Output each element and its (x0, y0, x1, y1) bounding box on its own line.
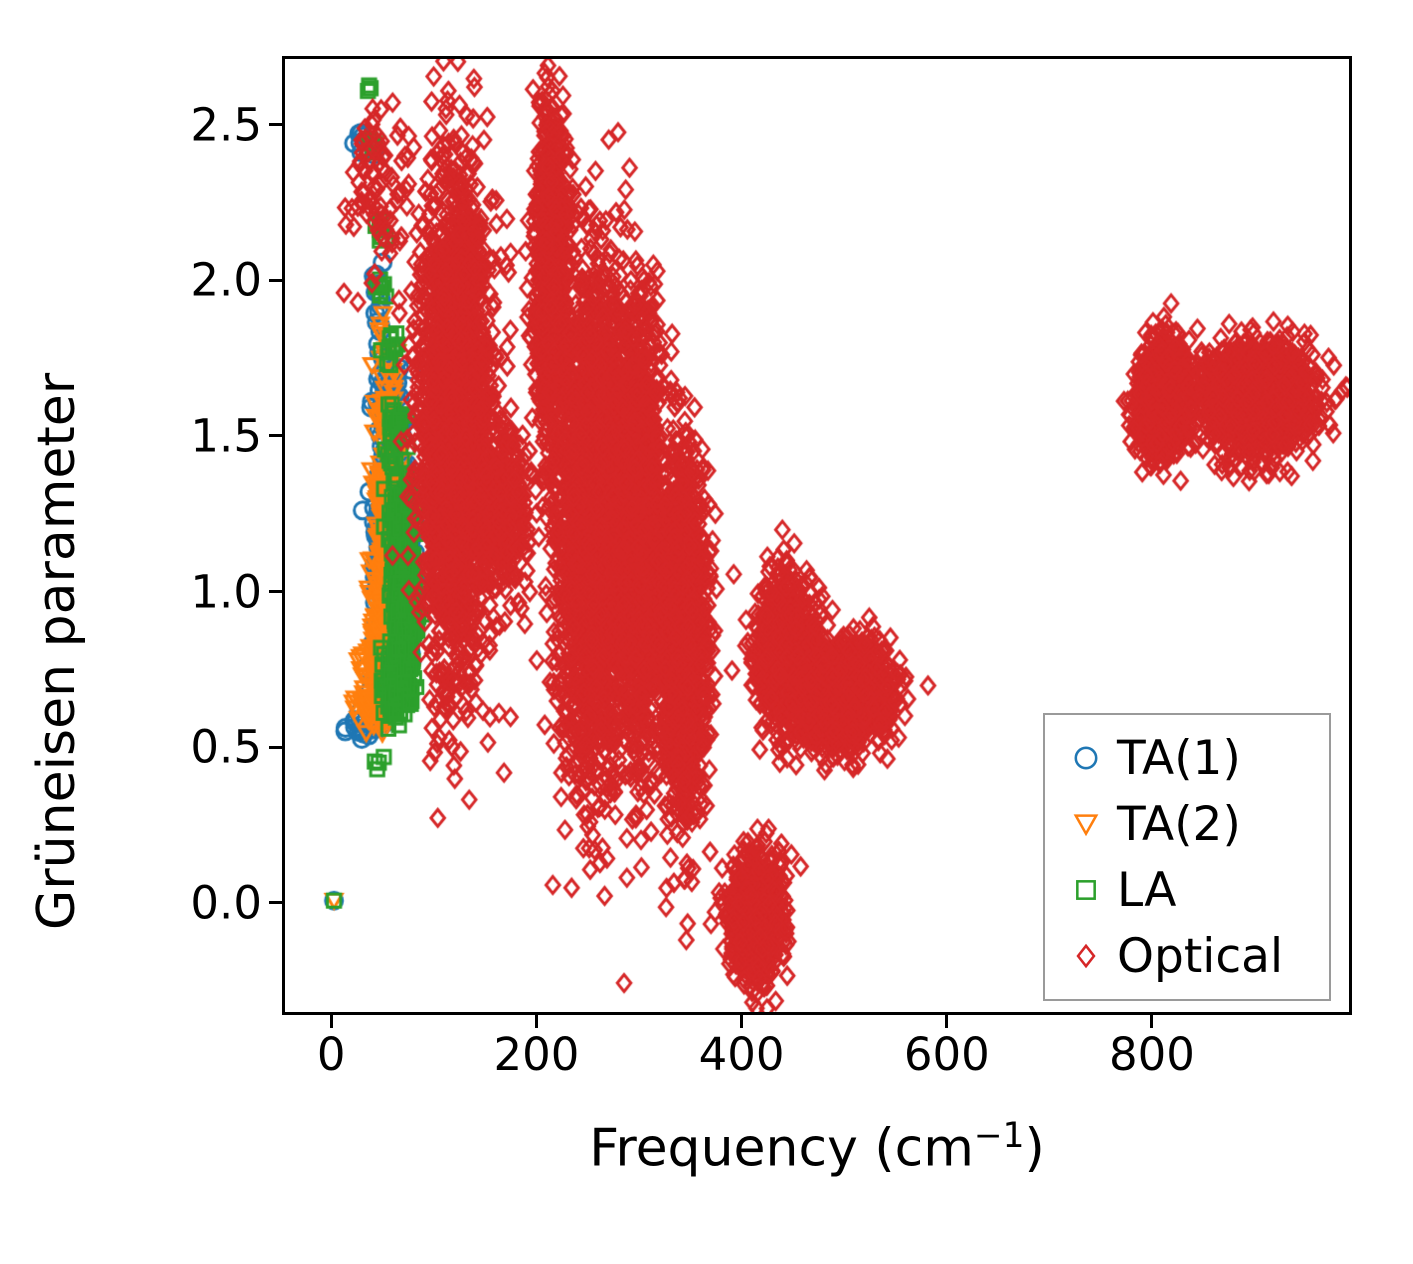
legend-label: LA (1117, 867, 1176, 914)
y-tick-mark (269, 590, 282, 593)
figure-canvas: 02004006008000.00.51.01.52.02.5 Frequenc… (0, 0, 1413, 1264)
x-tick-label: 800 (1109, 1032, 1195, 1077)
y-tick-label: 0.5 (190, 725, 262, 770)
x-axis-label-text: Frequency (cm (589, 1118, 974, 1178)
x-tick-mark (945, 1015, 948, 1028)
legend-box[interactable]: TA(1)TA(2)LAOptical (1043, 713, 1331, 1001)
y-tick-label: 2.0 (190, 258, 262, 303)
legend-item-ta1[interactable]: TA(1) (1045, 725, 1329, 791)
x-tick-label: 400 (699, 1032, 785, 1077)
legend-label: TA(2) (1117, 801, 1241, 848)
x-axis-label-paren: ) (1025, 1118, 1045, 1178)
x-tick-mark (1150, 1015, 1153, 1028)
legend-item-ta2[interactable]: TA(2) (1045, 791, 1329, 857)
y-tick-mark (269, 279, 282, 282)
y-tick-label: 1.0 (190, 569, 262, 614)
legend-label: TA(1) (1117, 735, 1241, 782)
y-tick-label: 1.5 (190, 413, 262, 458)
diamond-marker-icon (1063, 941, 1109, 971)
legend-item-la[interactable]: LA (1045, 857, 1329, 923)
x-tick-mark (330, 1015, 333, 1028)
x-axis-label-exponent: −1 (974, 1116, 1025, 1156)
legend-label: Optical (1117, 933, 1283, 980)
x-axis-label: Frequency (cm−1) (282, 1118, 1352, 1176)
legend-item-optical[interactable]: Optical (1045, 923, 1329, 989)
x-tick-label: 0 (317, 1032, 346, 1077)
triangle-down-marker-icon (1063, 809, 1109, 839)
square-marker-icon (1063, 875, 1109, 905)
y-tick-mark (269, 434, 282, 437)
y-tick-mark (269, 901, 282, 904)
y-axis-label: Grüneisen parameter (30, 373, 85, 930)
y-tick-label: 2.5 (190, 102, 262, 147)
x-tick-mark (740, 1015, 743, 1028)
x-tick-label: 600 (904, 1032, 990, 1077)
x-tick-label: 200 (493, 1032, 579, 1077)
circle-marker-icon (1063, 743, 1109, 773)
y-tick-mark (269, 123, 282, 126)
y-tick-label: 0.0 (190, 880, 262, 925)
y-tick-mark (269, 746, 282, 749)
x-tick-mark (535, 1015, 538, 1028)
